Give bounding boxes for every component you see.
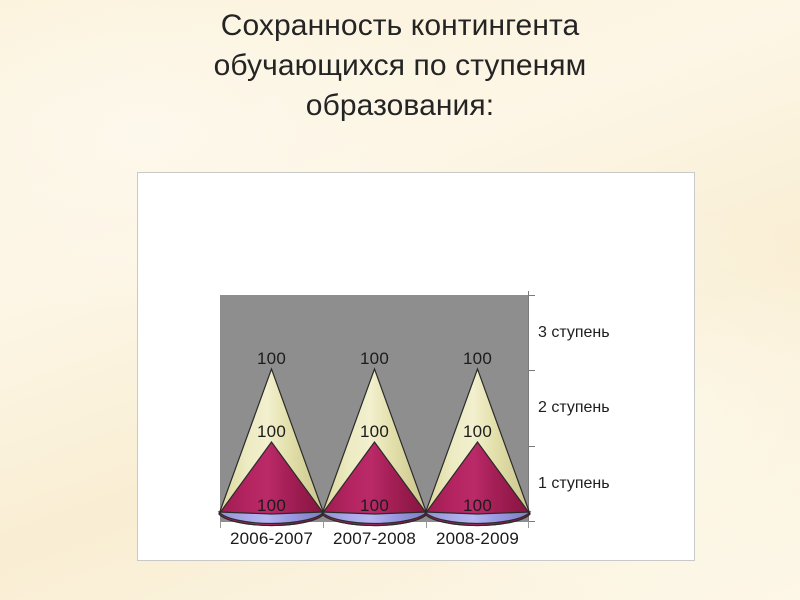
slide: Сохранность контингента обучающихся по с… (0, 0, 800, 600)
series-label-1-stupen: 1 ступень (538, 476, 610, 492)
page-title: Сохранность контингента обучающихся по с… (120, 6, 680, 126)
data-label-1-2008-2009: 100 (463, 497, 492, 514)
data-label-2-2007-2008: 100 (360, 423, 389, 440)
title-line-1: Сохранность контингента (120, 6, 680, 46)
series-label-2-stupen: 2 ступень (538, 400, 610, 416)
data-label-1-2007-2008: 100 (360, 497, 389, 514)
series-label-3-stupen: 3 ступень (538, 325, 610, 341)
x-axis-label-2007-2008: 2007-2008 (333, 529, 416, 549)
data-label-3-2006-2007: 100 (257, 350, 286, 367)
title-line-3: образования: (120, 86, 680, 126)
chart-plot-wrapper: 100 100 100 100 100 100 100 100 100 3 ст… (138, 173, 695, 561)
x-axis-label-2008-2009: 2008-2009 (436, 529, 519, 549)
data-label-3-2008-2009: 100 (463, 350, 492, 367)
cone-series-graphic (138, 173, 695, 561)
data-label-3-2007-2008: 100 (360, 350, 389, 367)
title-line-2: обучающихся по ступеням (120, 46, 680, 86)
x-axis-label-2006-2007: 2006-2007 (230, 529, 313, 549)
data-label-2-2008-2009: 100 (463, 423, 492, 440)
data-label-1-2006-2007: 100 (257, 497, 286, 514)
chart-container[interactable]: 100 100 100 100 100 100 100 100 100 3 ст… (137, 172, 695, 561)
data-label-2-2006-2007: 100 (257, 423, 286, 440)
